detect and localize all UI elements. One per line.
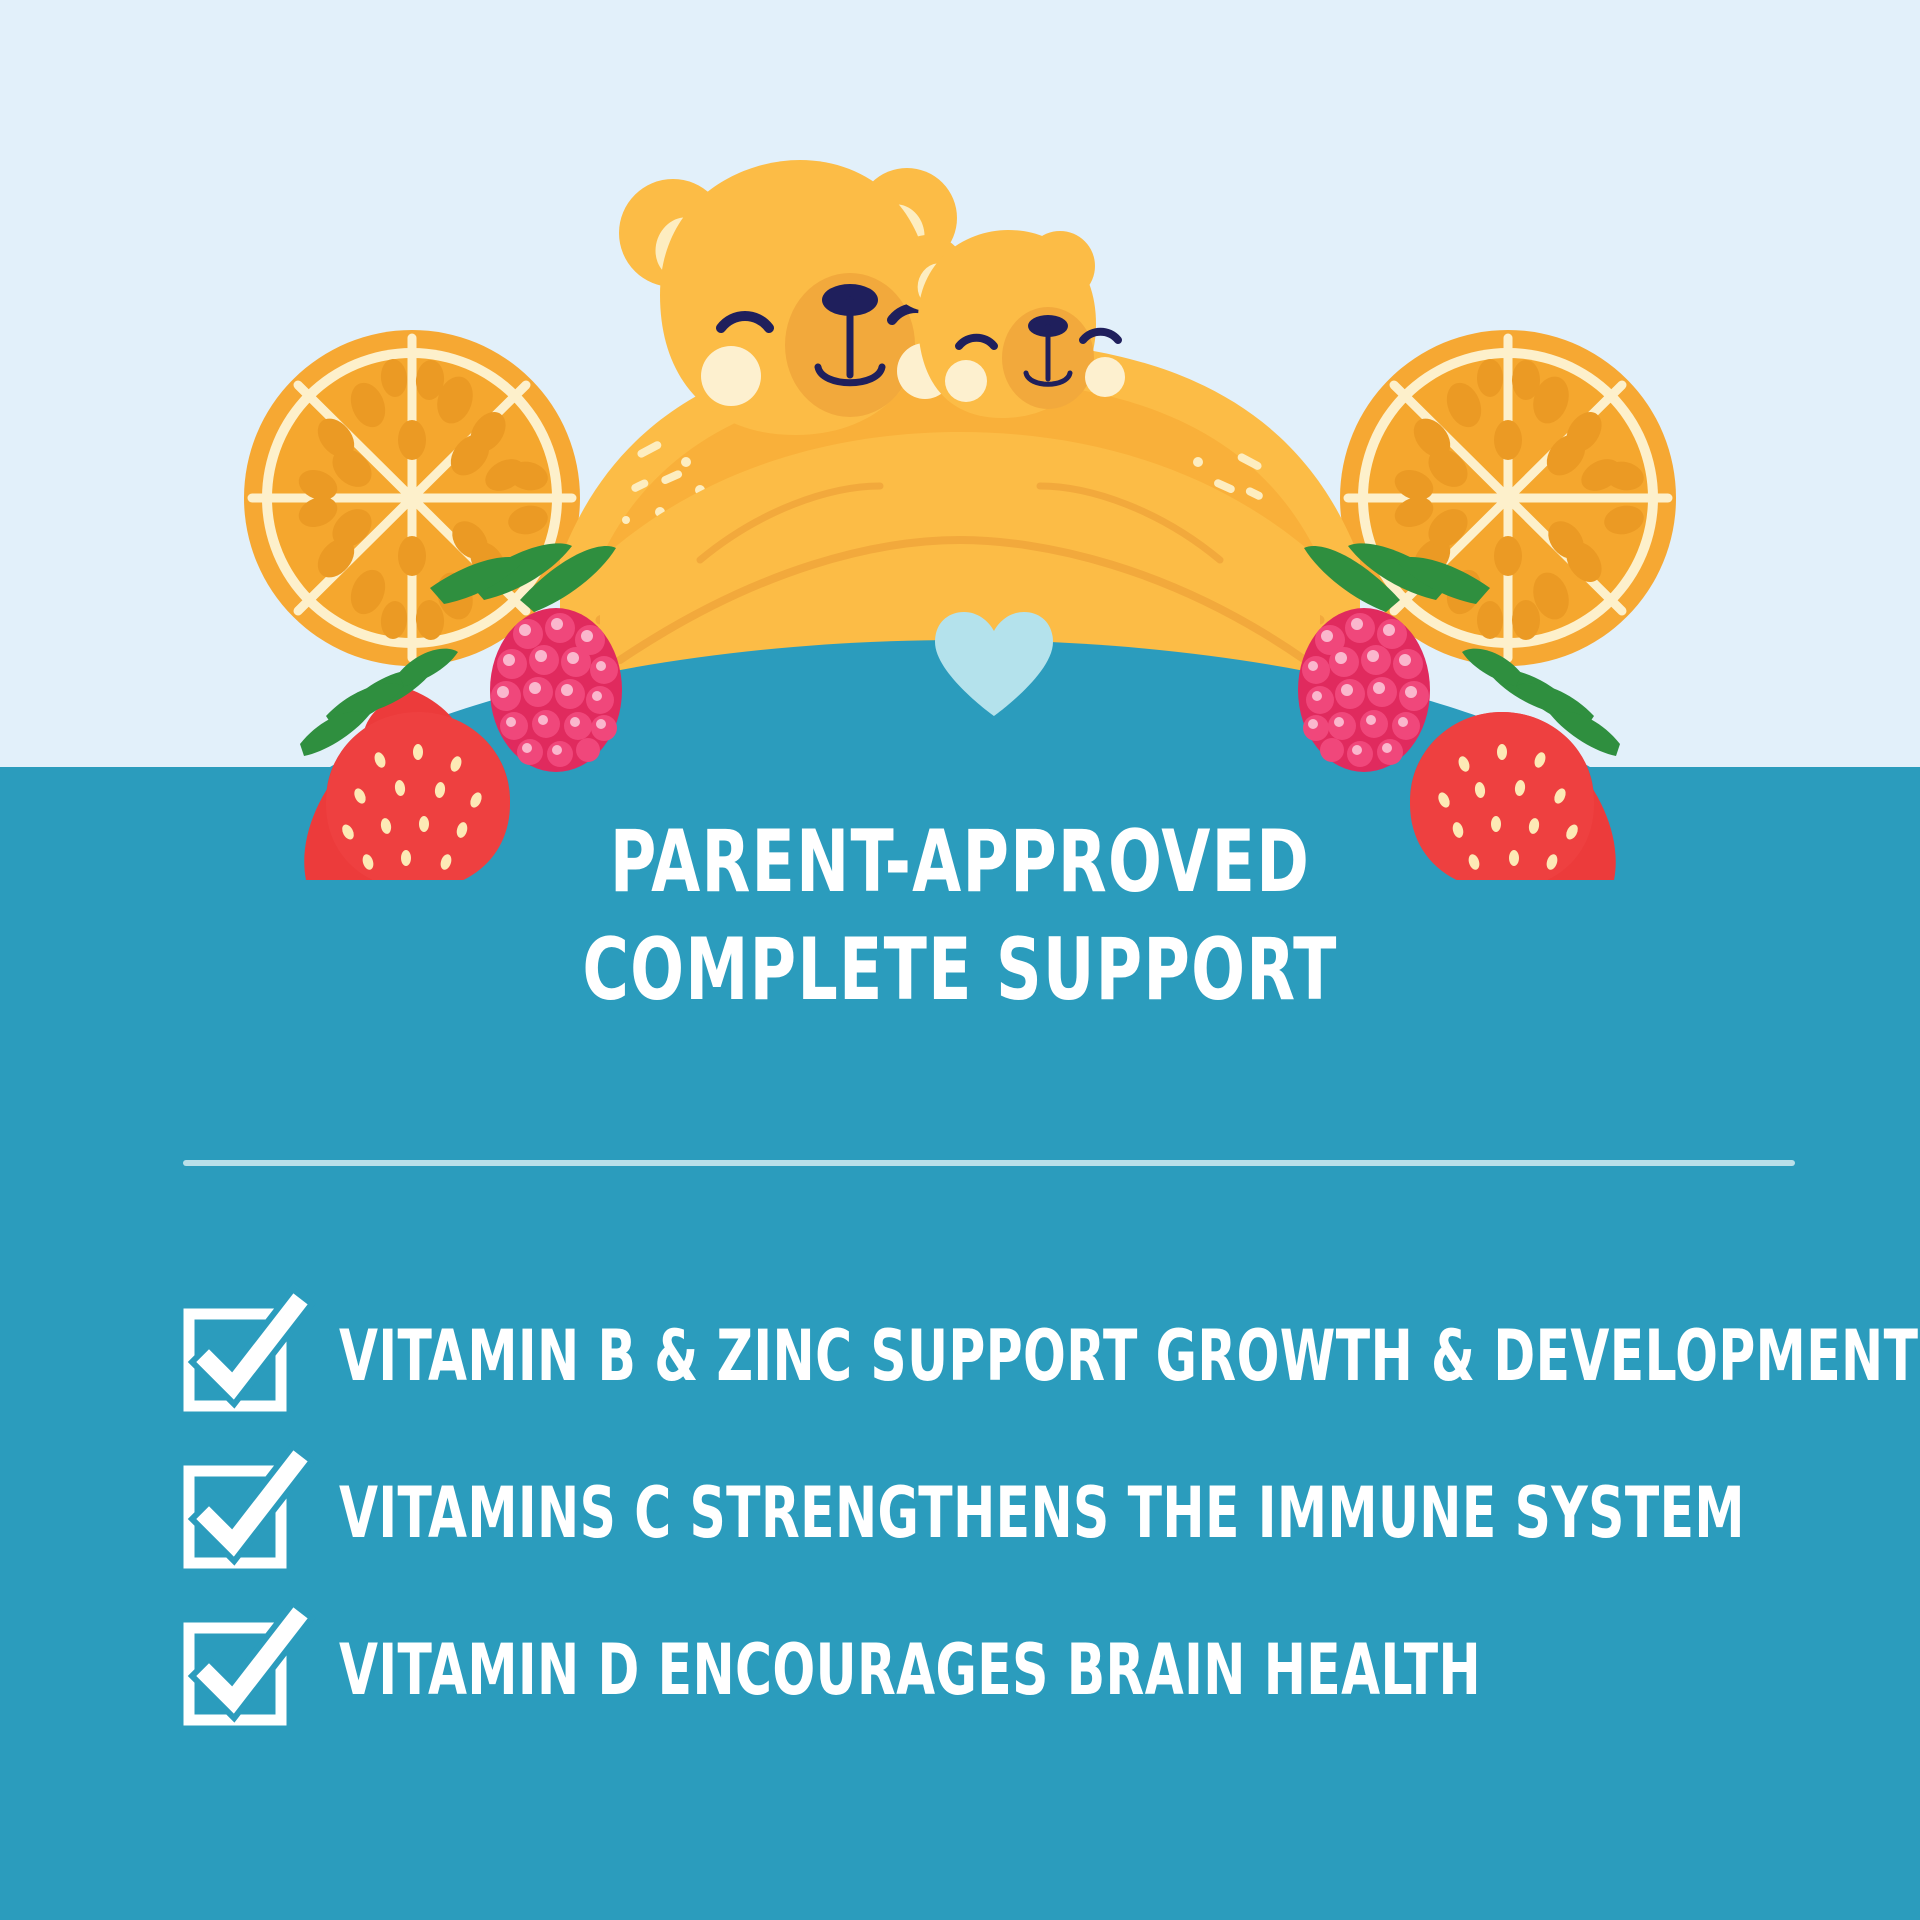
list-item-label: VITAMINS C STRENGTHENS THE IMMUNE SYSTEM: [339, 1472, 1745, 1554]
promo-graphic: PARENT-APPROVED COMPLETE SUPPORT VITAMIN…: [0, 0, 1920, 1920]
heart-icon: [935, 612, 1053, 716]
headline-line-1: PARENT-APPROVED: [173, 808, 1747, 916]
small-bear-cheek-left: [945, 360, 987, 402]
list-item-label: VITAMIN B & ZINC SUPPORT GROWTH & DEVELO…: [339, 1315, 1918, 1397]
small-bear-eye-right: [1083, 332, 1118, 340]
checkbox-checked-icon: [183, 1614, 295, 1726]
divider: [183, 1160, 1795, 1166]
checkbox-checked-icon: [183, 1457, 295, 1569]
page-title: PARENT-APPROVED COMPLETE SUPPORT: [0, 808, 1920, 1025]
hero-illustration: [0, 0, 1920, 880]
benefits-checklist: VITAMIN B & ZINC SUPPORT GROWTH & DEVELO…: [183, 1300, 1883, 1771]
list-item-label: VITAMIN D ENCOURAGES BRAIN HEALTH: [339, 1629, 1481, 1711]
small-bear-cheek-right: [1085, 357, 1125, 397]
list-item: VITAMIN B & ZINC SUPPORT GROWTH & DEVELO…: [183, 1300, 1883, 1412]
headline-line-2: COMPLETE SUPPORT: [173, 916, 1747, 1024]
checkbox-checked-icon: [183, 1300, 295, 1412]
list-item: VITAMINS C STRENGTHENS THE IMMUNE SYSTEM: [183, 1457, 1883, 1569]
large-bear-cheek-left: [701, 346, 761, 406]
list-item: VITAMIN D ENCOURAGES BRAIN HEALTH: [183, 1614, 1883, 1726]
